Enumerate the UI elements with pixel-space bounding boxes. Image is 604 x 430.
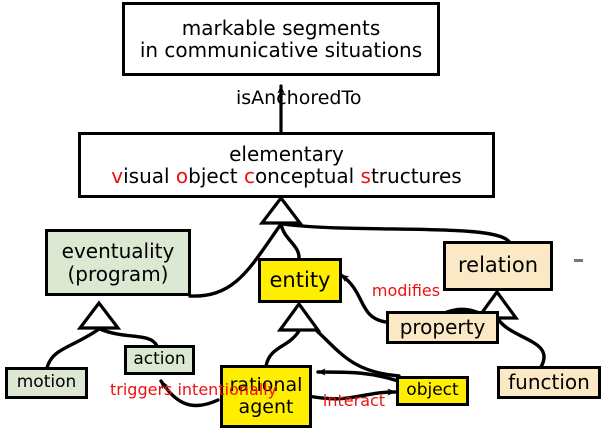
edge-action-to-eventuality [100,329,157,346]
vocs-initial-v: v [111,164,123,188]
node-eventuality[interactable]: eventuality (program) [45,229,191,296]
edge-label-modifies-text: modifies [372,281,440,300]
node-relation[interactable]: relation [443,241,553,291]
diagram-canvas: markable segments in communicative situa… [0,0,604,430]
node-relation-label: relation [458,254,538,278]
node-markable-segments-line1: markable segments [182,17,381,39]
generalization-head-eventuality [80,303,118,328]
node-property-label: property [400,316,486,338]
node-action-label: action [133,350,185,369]
vocs-rest-conceptual: onceptual [255,164,361,188]
node-object[interactable]: object [396,376,469,406]
node-entity-label: entity [270,269,331,293]
vocs-rest-visual: isual [123,164,176,188]
node-function-label: function [508,371,590,393]
node-motion-label: motion [17,373,77,392]
edge-label-triggers-line2: intentionally [177,380,277,399]
stray-dash-mark [574,259,583,262]
edge-motion-to-eventuality [47,329,99,368]
node-vocs-line2: visual object conceptual structures [111,165,461,187]
edge-label-is-anchored-to: isAnchoredTo [236,89,416,109]
node-eventuality-line2: (program) [68,263,169,285]
edge-label-interact-text: interact [323,391,385,410]
node-rational-agent-line2: agent [239,397,294,418]
node-markable-segments-line2: in communicative situations [140,39,422,61]
vocs-rest-structures: tructures [371,164,462,188]
node-markable-segments[interactable]: markable segments in communicative situa… [122,2,440,76]
node-eventuality-line1: eventuality [62,240,175,262]
vocs-initial-c: c [244,164,255,188]
edge-function-to-relation [498,319,544,367]
edge-label-modifies: modifies [366,283,446,300]
edge-label-interact: interact [314,393,394,410]
node-vocs-line1: elementary [229,143,344,165]
node-motion[interactable]: motion [5,367,88,399]
node-object-label: object [406,381,458,400]
node-property[interactable]: property [386,311,499,344]
vocs-rest-object: bject [188,164,244,188]
vocs-initial-s: s [361,164,371,188]
node-vocs[interactable]: elementary visual object conceptual stru… [78,132,495,198]
edge-rational-agent-to-entity [266,331,299,366]
generalization-head-vocs [262,198,300,223]
node-entity[interactable]: entity [258,258,342,303]
generalization-head-entity [280,304,318,330]
edge-label-is-anchored-to-text: isAnchoredTo [236,87,361,109]
node-action[interactable]: action [124,345,195,375]
edge-entity-to-vocs [281,224,299,259]
vocs-initial-o: o [176,164,188,188]
edge-label-triggers-intentionally: triggers intentionally [110,382,220,399]
node-function[interactable]: function [497,366,601,399]
edge-label-triggers-line1: triggers [110,380,172,399]
